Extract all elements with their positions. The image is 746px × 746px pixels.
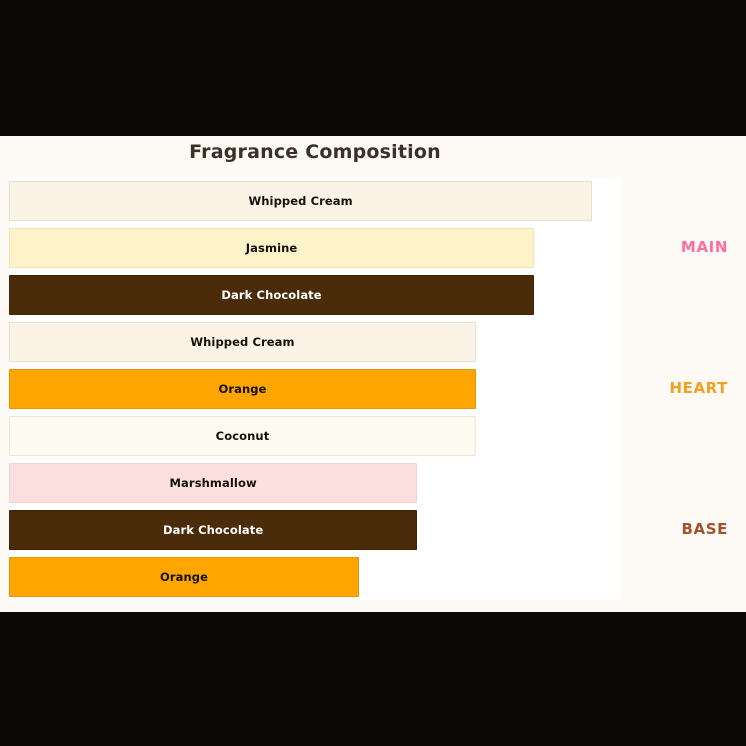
bar-label: Orange [160,570,208,584]
bar-label: Whipped Cream [248,194,352,208]
bar-dark-chocolate-7[interactable]: Dark Chocolate [9,510,417,550]
bar-label: Whipped Cream [190,335,294,349]
group-label-base: BASE [682,520,729,538]
group-label-heart: HEART [669,379,728,397]
screenshot-root: Fragrance Composition Whipped CreamJasmi… [0,0,746,746]
bar-whipped-cream-0[interactable]: Whipped Cream [9,181,592,221]
bar-label: Marshmallow [170,476,257,490]
bar-label: Dark Chocolate [163,523,263,537]
bar-dark-chocolate-2[interactable]: Dark Chocolate [9,275,534,315]
chart-figure: Fragrance Composition Whipped CreamJasmi… [0,136,746,612]
bar-jasmine-1[interactable]: Jasmine [9,228,534,268]
bar-marshmallow-6[interactable]: Marshmallow [9,463,417,503]
plot-area: Whipped CreamJasmineDark ChocolateWhippe… [9,177,621,600]
page-title: Fragrance Composition [0,141,630,163]
bar-orange-8[interactable]: Orange [9,557,359,597]
bar-label: Orange [218,382,266,396]
bar-coconut-5[interactable]: Coconut [9,416,476,456]
bar-whipped-cream-3[interactable]: Whipped Cream [9,322,476,362]
bar-label: Dark Chocolate [221,288,321,302]
bar-orange-4[interactable]: Orange [9,369,476,409]
bar-label: Coconut [216,429,270,443]
group-label-main: MAIN [681,238,728,256]
bar-label: Jasmine [246,241,298,255]
